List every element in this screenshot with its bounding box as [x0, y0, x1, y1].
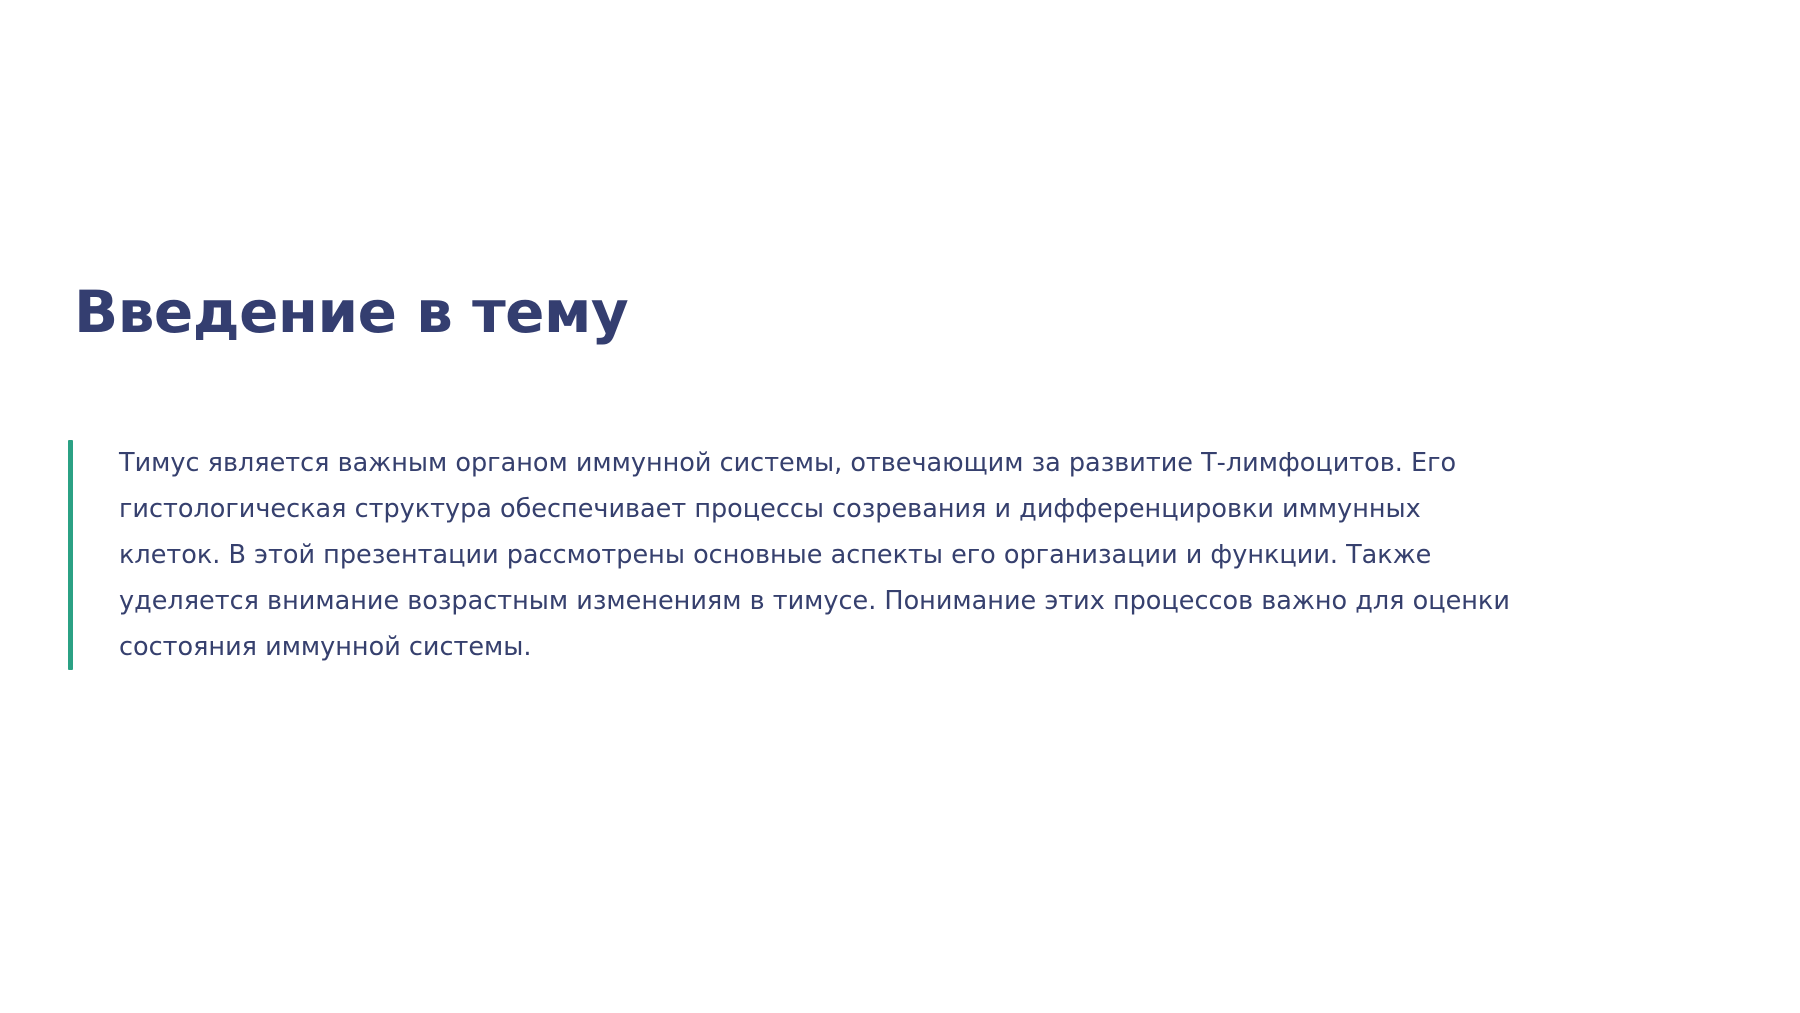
page-title: Введение в тему [74, 281, 628, 344]
body-paragraph: Тимус является важным органом иммунной с… [73, 440, 1517, 670]
body-block: Тимус является важным органом иммунной с… [68, 440, 1708, 670]
slide-canvas: Введение в тему Тимус является важным ор… [0, 0, 1800, 1013]
